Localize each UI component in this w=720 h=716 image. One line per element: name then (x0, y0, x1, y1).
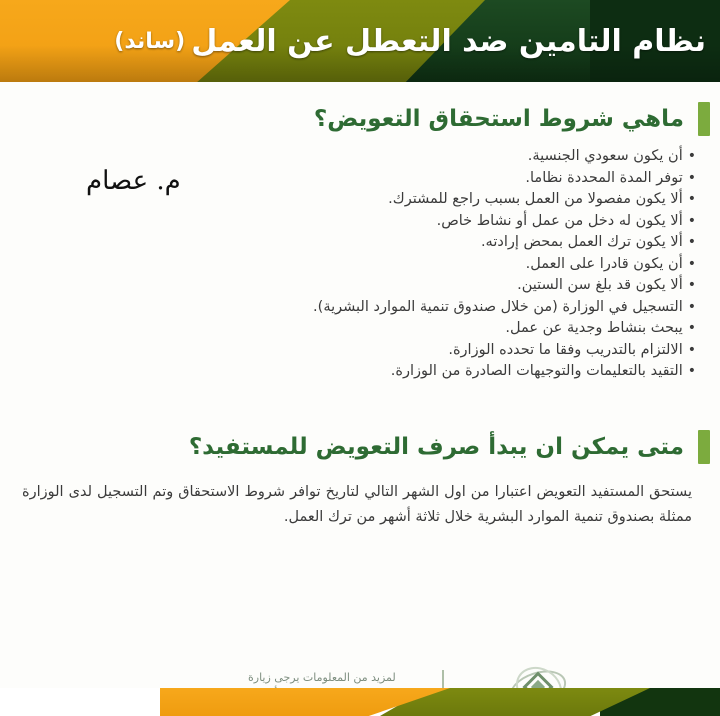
condition-item-label: التقيد بالتعليمات والتوجيهات الصادرة من … (391, 361, 683, 383)
page-title: نظام التامين ضد التعطل عن العمل (ساند) (0, 0, 720, 82)
condition-item-label: ألا يكون ترك العمل بمحض إرادته. (481, 232, 683, 254)
bullet-dot-icon: • (688, 361, 696, 383)
condition-item: •التسجيل في الوزارة (من خلال صندوق تنمية… (0, 297, 696, 319)
bullet-dot-icon: • (688, 254, 696, 276)
condition-item: •الالتزام بالتدريب وفقا ما تحدده الوزارة… (0, 340, 696, 362)
condition-item: •ألا يكون مفصولا من العمل بسبب راجع للمش… (0, 189, 696, 211)
bullet-dot-icon: • (688, 340, 696, 362)
bottom-color-bar (0, 688, 720, 716)
condition-item-label: التسجيل في الوزارة (من خلال صندوق تنمية … (313, 297, 683, 319)
heading-accent-bar-icon (698, 102, 710, 136)
section-heading-conditions: ماهي شروط استحقاق التعويض؟ (0, 102, 720, 136)
bullet-dot-icon: • (688, 146, 696, 168)
condition-item: •ألا يكون ترك العمل بمحض إرادته. (0, 232, 696, 254)
page-title-main: نظام التامين ضد التعطل عن العمل (191, 24, 706, 59)
page-title-sub: (ساند) (114, 29, 185, 54)
infographic-page: نظام التامين ضد التعطل عن العمل (ساند) م… (0, 0, 720, 716)
condition-item: •يبحث بنشاط وجدية عن عمل. (0, 318, 696, 340)
bullet-dot-icon: • (688, 275, 696, 297)
bullet-dot-icon: • (688, 297, 696, 319)
condition-item-label: أن يكون قادرا على العمل. (526, 254, 683, 276)
content-card: م. عصام ماهي شروط استحقاق التعويض؟ •أن ي… (0, 82, 720, 688)
footer: وزارة العمل المملكة العربية السعودية لمز… (0, 578, 720, 688)
condition-item-label: أن يكون سعودي الجنسية. (528, 146, 683, 168)
section-heading-payout: متى يمكن ان يبدأ صرف التعويض للمستفيد؟ (0, 430, 720, 464)
heading-accent-bar-icon (698, 430, 710, 464)
condition-item-label: ألا يكون قد بلغ سن الستين. (517, 275, 683, 297)
bullet-dot-icon: • (688, 189, 696, 211)
condition-item: •أن يكون سعودي الجنسية. (0, 146, 696, 168)
info-note-line: لمزيد من المعلومات يرجى زيارة (248, 670, 433, 686)
section2-heading-text: متى يمكن ان يبدأ صرف التعويض للمستفيد؟ (189, 434, 684, 460)
condition-item: •ألا يكون له دخل من عمل أو نشاط خاص. (0, 211, 696, 233)
condition-item-label: توفر المدة المحددة نظاما. (525, 168, 682, 190)
condition-item-label: يبحث بنشاط وجدية عن عمل. (505, 318, 682, 340)
bullet-dot-icon: • (688, 211, 696, 233)
payout-paragraph: يستحق المستفيد التعويض اعتبارا من اول ال… (22, 480, 692, 530)
condition-item-label: الالتزام بالتدريب وفقا ما تحدده الوزارة. (448, 340, 682, 362)
condition-item: •أن يكون قادرا على العمل. (0, 254, 696, 276)
section1-heading-text: ماهي شروط استحقاق التعويض؟ (314, 106, 684, 132)
condition-item: •توفر المدة المحددة نظاما. (0, 168, 696, 190)
condition-item: •التقيد بالتعليمات والتوجيهات الصادرة من… (0, 361, 696, 383)
condition-item: •ألا يكون قد بلغ سن الستين. (0, 275, 696, 297)
bullet-dot-icon: • (688, 232, 696, 254)
condition-item-label: ألا يكون له دخل من عمل أو نشاط خاص. (437, 211, 683, 233)
condition-item-label: ألا يكون مفصولا من العمل بسبب راجع للمشت… (388, 189, 683, 211)
bullet-dot-icon: • (688, 168, 696, 190)
header-banner: نظام التامين ضد التعطل عن العمل (ساند) (0, 0, 720, 82)
conditions-list: •أن يكون سعودي الجنسية.•توفر المدة المحد… (0, 146, 720, 383)
bullet-dot-icon: • (688, 318, 696, 340)
